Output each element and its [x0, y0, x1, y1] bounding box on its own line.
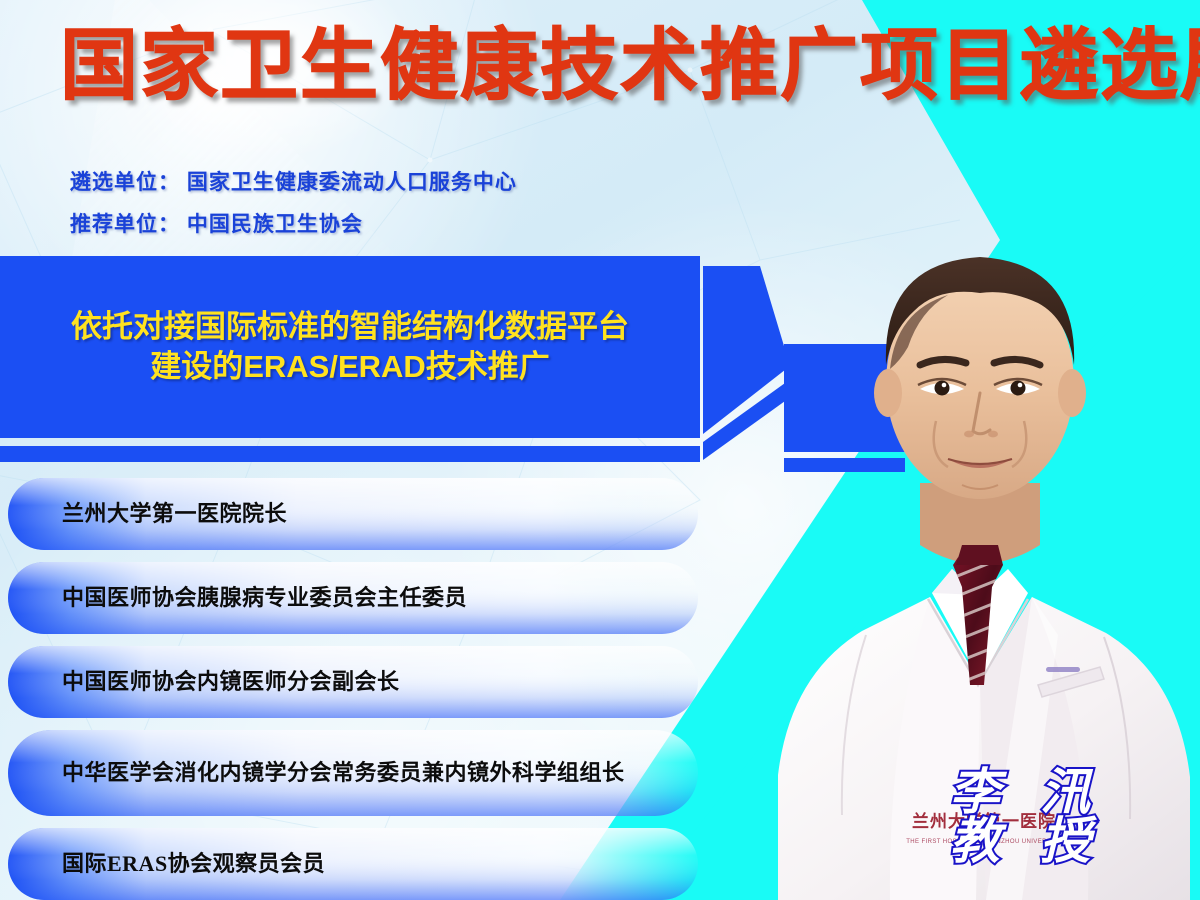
page-title: 国家卫生健康技术推广项目遴选展示 [60, 26, 1170, 104]
list-item-label: 国际ERAS协会观察员会员 [62, 828, 668, 900]
banner-text: 依托对接国际标准的智能结构化数据平台 建设的ERAS/ERAD技术推广 [0, 256, 700, 438]
svg-text:兰州大学第一医院: 兰州大学第一医院 [912, 811, 1056, 831]
recommending-unit-line: 推荐单位： 中国民族卫生协会 [70, 208, 363, 238]
poster-canvas: 国家卫生健康技术推广项目遴选展示 遴选单位： 国家卫生健康委流动人口服务中心 推… [0, 0, 1200, 900]
list-item: 国际ERAS协会观察员会员 [8, 828, 698, 900]
list-item-label: 中国医师协会胰腺病专业委员会主任委员 [62, 562, 668, 634]
svg-text:THE FIRST HOSPITAL OF LANZHOU: THE FIRST HOSPITAL OF LANZHOU UNIVERSITY [906, 839, 1062, 845]
banner-underline [0, 446, 700, 462]
list-item: 兰州大学第一医院院长 [8, 478, 698, 550]
hospital-badge: 兰州大学第一医院 THE FIRST HOSPITAL OF LANZHOU U… [906, 811, 1062, 845]
speaker-portrait: 兰州大学第一医院 THE FIRST HOSPITAL OF LANZHOU U… [770, 215, 1200, 900]
list-item: 中国医师协会内镜医师分会副会长 [8, 646, 698, 718]
list-item: 中国医师协会胰腺病专业委员会主任委员 [8, 562, 698, 634]
list-item-label: 兰州大学第一医院院长 [62, 478, 668, 550]
banner-line-1: 依托对接国际标准的智能结构化数据平台 [71, 307, 629, 347]
banner-line-2: 建设的ERAS/ERAD技术推广 [150, 347, 550, 387]
selection-unit-line: 遴选单位： 国家卫生健康委流动人口服务中心 [70, 166, 517, 196]
list-item-label: 中华医学会消化内镜学分会常务委员兼内镜外科学组组长 [62, 730, 668, 816]
credentials-list: 兰州大学第一医院院长 中国医师协会胰腺病专业委员会主任委员 中国医师协会内镜医师… [8, 478, 698, 900]
list-item-label: 中国医师协会内镜医师分会副会长 [62, 646, 668, 718]
list-item: 中华医学会消化内镜学分会常务委员兼内镜外科学组组长 [8, 730, 698, 816]
